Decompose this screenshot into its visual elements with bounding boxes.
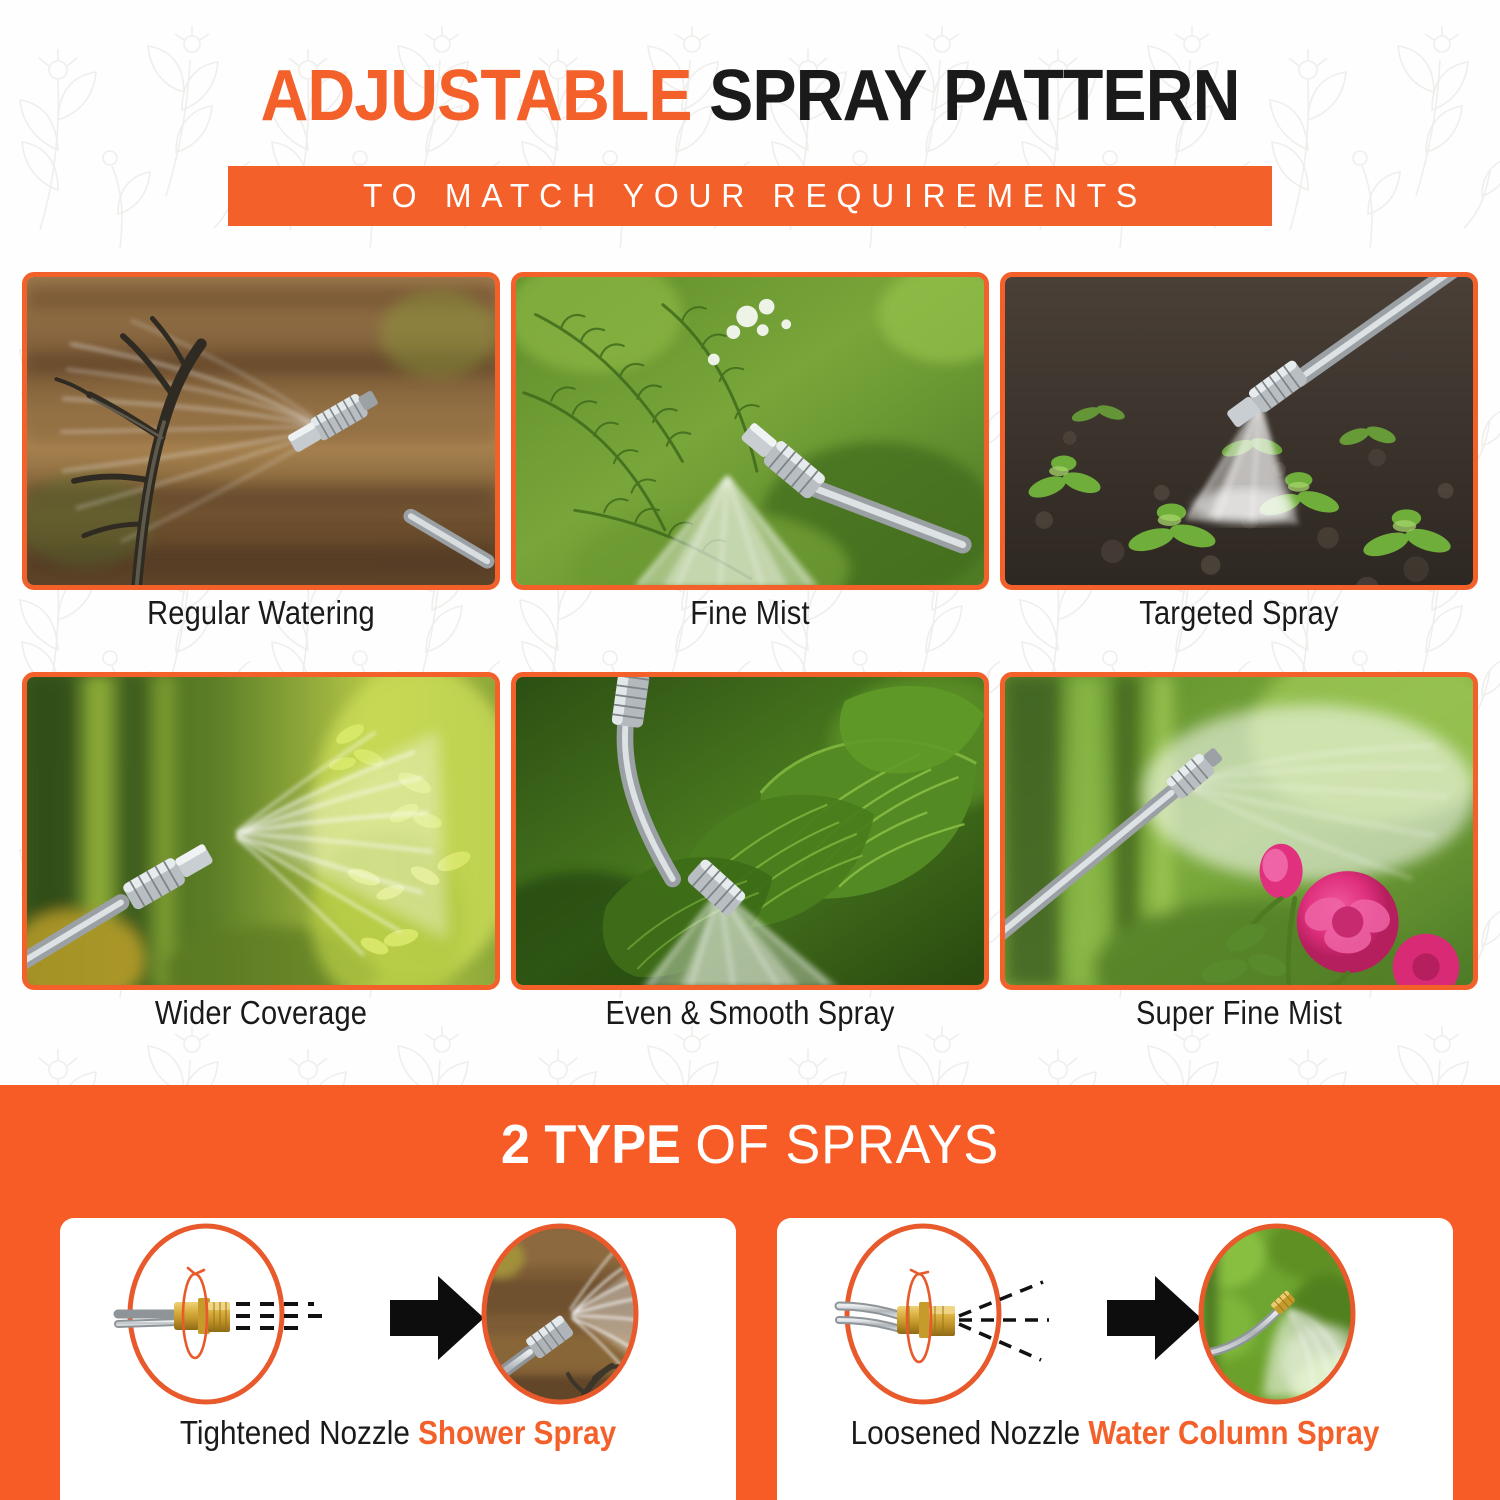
diagram-tightened-nozzle <box>60 1218 736 1416</box>
grid-caption: Wider Coverage <box>51 994 472 1032</box>
panel-loosened-nozzle: Loosened Nozzle Water Column Spray <box>777 1218 1453 1500</box>
panel-caption-orange: Water Column Spray <box>1088 1414 1379 1451</box>
subtitle-banner-text: TO MATCH YOUR REQUIREMENTS <box>353 177 1147 215</box>
grid-caption: Even & Smooth Spray <box>540 994 961 1032</box>
photo-regular-watering <box>22 272 500 590</box>
two-types-title-bold: 2 TYPE <box>501 1113 681 1175</box>
panel-caption-black: Loosened Nozzle <box>851 1414 1081 1451</box>
panel-caption-loosened: Loosened Nozzle Water Column Spray <box>811 1414 1419 1452</box>
two-types-title-light: OF SPRAYS <box>695 1113 999 1175</box>
photo-super-fine-mist <box>1000 672 1478 990</box>
photo-wider-coverage <box>22 672 500 990</box>
photo-fine-mist <box>511 272 989 590</box>
spray-pattern-grid: Regular Watering <box>0 272 1500 1072</box>
two-types-section: 2 TYPE OF SPRAYS <box>0 1085 1500 1500</box>
photo-targeted-spray <box>1000 272 1478 590</box>
page-title-rest: SPRAY PATTERN <box>709 56 1239 136</box>
photo-even-smooth-spray <box>511 672 989 990</box>
panel-caption-tightened: Tightened Nozzle Shower Spray <box>94 1414 702 1452</box>
grid-caption: Targeted Spray <box>1029 594 1450 632</box>
page-title-accent: ADJUSTABLE <box>260 56 691 136</box>
page-title: ADJUSTABLE SPRAY PATTERN <box>60 60 1440 132</box>
diagram-loosened-nozzle <box>777 1218 1453 1416</box>
grid-caption: Super Fine Mist <box>1029 994 1450 1032</box>
grid-caption: Regular Watering <box>51 594 472 632</box>
panel-tightened-nozzle: Tightened Nozzle Shower Spray <box>60 1218 736 1500</box>
subtitle-banner: TO MATCH YOUR REQUIREMENTS <box>228 166 1272 226</box>
two-types-title: 2 TYPE OF SPRAYS <box>38 1117 1463 1172</box>
header: ADJUSTABLE SPRAY PATTERN TO MATCH YOUR R… <box>0 0 1500 265</box>
right-arrow-icon <box>390 1276 484 1360</box>
panel-caption-orange: Shower Spray <box>418 1414 616 1451</box>
panel-caption-black: Tightened Nozzle <box>180 1414 410 1451</box>
infographic-page: ADJUSTABLE SPRAY PATTERN TO MATCH YOUR R… <box>0 0 1500 1500</box>
grid-caption: Fine Mist <box>540 594 961 632</box>
right-arrow-icon <box>1107 1276 1201 1360</box>
